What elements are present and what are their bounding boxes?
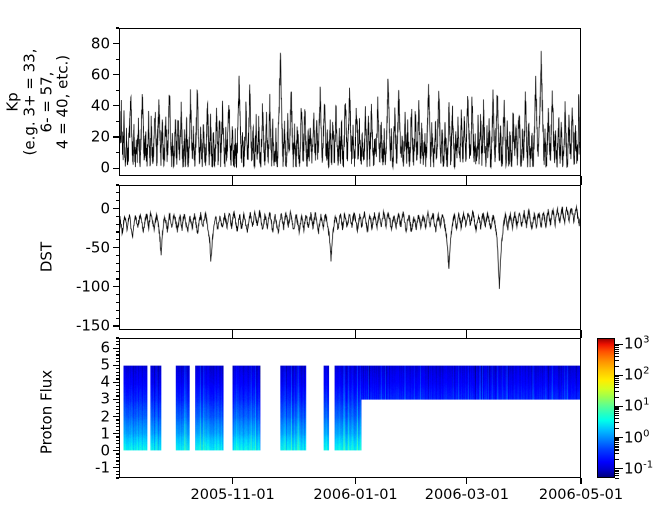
y-minor-tick (116, 358, 119, 359)
y-minor-tick (116, 310, 119, 311)
colorbar-minor-tick (615, 418, 619, 419)
y-minor-tick (116, 372, 119, 373)
colorbar-minor-tick (615, 411, 619, 412)
y-minor-tick (116, 263, 119, 264)
y-minor-tick (116, 471, 119, 472)
y-minor-tick (116, 474, 119, 475)
colorbar-minor-tick (615, 360, 619, 361)
y-minor-tick (116, 443, 119, 444)
y-minor-tick (116, 341, 119, 342)
y-minor-tick (116, 457, 119, 458)
colorbar-tick-exponent: 1 (643, 397, 649, 408)
colorbar-minor-tick (615, 380, 619, 381)
y-major-tick (113, 467, 119, 468)
colorbar-minor-tick (615, 422, 619, 423)
y-minor-tick (116, 231, 119, 232)
y-tick-label: 6 (100, 341, 110, 356)
colorbar-tick-label: 100 (624, 430, 649, 445)
x-tick-label: 2006-03-01 (425, 488, 509, 503)
colorbar-minor-tick (615, 376, 619, 377)
colorbar-minor-tick (615, 446, 619, 447)
colorbar-minor-tick (615, 353, 619, 354)
y-tick-label: 0 (100, 443, 110, 458)
y-tick-label: 80 (91, 36, 110, 51)
colorbar-minor-tick (615, 407, 619, 408)
kp-axis-label-line-1: Kp (4, 49, 21, 156)
colorbar-tick-label: 102 (624, 368, 649, 383)
y-minor-tick (116, 392, 119, 393)
y-major-tick (113, 43, 119, 44)
colorbar-minor-tick (615, 453, 619, 454)
x-major-tick-top (466, 332, 467, 338)
y-major-tick (113, 136, 119, 137)
colorbar-minor-tick (615, 382, 619, 383)
y-minor-tick (116, 409, 119, 410)
kp-axis-label-line-3: 6- = 57, (38, 49, 55, 156)
y-major-tick (113, 247, 119, 248)
colorbar-minor-tick (615, 449, 619, 450)
proton-flux-panel[interactable] (119, 338, 581, 478)
kp-axis-label-line-2: (e.g. 3+ = 33, (21, 49, 38, 156)
y-minor-tick (116, 361, 119, 362)
y-major-tick (113, 365, 119, 366)
y-major-tick (113, 74, 119, 75)
y-major-tick (113, 105, 119, 106)
colorbar-major-tick (615, 437, 623, 438)
x-major-tick-top (580, 332, 581, 338)
y-tick-label: 2 (100, 409, 110, 424)
colorbar-minor-tick (615, 473, 619, 474)
y-minor-tick (116, 436, 119, 437)
colorbar-minor-tick (615, 444, 619, 445)
y-major-tick (113, 433, 119, 434)
y-major-tick (113, 416, 119, 417)
y-minor-tick (116, 419, 119, 420)
y-tick-label: -50 (86, 240, 111, 255)
colorbar-minor-tick (615, 459, 619, 460)
y-minor-tick (116, 351, 119, 352)
dst-series-canvas (120, 186, 580, 329)
y-minor-tick (116, 200, 119, 201)
y-minor-tick (116, 318, 119, 319)
y-minor-tick (116, 477, 119, 478)
y-tick-label: 4 (100, 375, 110, 390)
colorbar-minor-tick (615, 384, 619, 385)
y-minor-tick (116, 460, 119, 461)
y-minor-tick (116, 302, 119, 303)
x-major-tick (466, 478, 467, 484)
y-tick-label: 60 (91, 67, 110, 82)
y-minor-tick (116, 294, 119, 295)
colorbar-major-tick (615, 468, 623, 469)
y-minor-tick (116, 354, 119, 355)
colorbar-tick-label: 103 (624, 337, 649, 352)
y-minor-tick (116, 59, 119, 60)
y-major-tick (113, 450, 119, 451)
figure-root: Kp (e.g. 3+ = 33, 6- = 57, 4 = 40, etc.)… (0, 0, 665, 523)
colorbar-minor-tick (615, 438, 619, 439)
colorbar-minor-tick (615, 387, 619, 388)
y-major-tick (113, 208, 119, 209)
colorbar-minor-tick (615, 391, 619, 392)
y-tick-label: -1 (95, 460, 110, 475)
y-minor-tick (116, 406, 119, 407)
colorbar-minor-tick (615, 397, 619, 398)
y-minor-tick (116, 453, 119, 454)
y-minor-tick (116, 464, 119, 465)
x-tick-label: 2005-11-01 (191, 488, 275, 503)
y-minor-tick (116, 90, 119, 91)
colorbar-minor-tick (615, 345, 619, 346)
y-tick-label: 3 (100, 392, 110, 407)
y-minor-tick (116, 121, 119, 122)
y-major-tick (113, 286, 119, 287)
x-major-tick-top (580, 179, 581, 185)
y-minor-tick (116, 430, 119, 431)
colorbar-tick-label: 10-1 (624, 461, 653, 476)
y-major-tick (113, 325, 119, 326)
y-minor-tick (116, 184, 119, 185)
dst-axis-label: DST (39, 242, 56, 272)
y-minor-tick (116, 216, 119, 217)
y-major-tick (113, 399, 119, 400)
kp-axis-label-line-4: 4 = 40, etc.) (55, 49, 72, 156)
x-major-tick (232, 478, 233, 484)
y-minor-tick (116, 27, 119, 28)
y-minor-tick (116, 378, 119, 379)
y-minor-tick (116, 375, 119, 376)
colorbar-major-tick (615, 406, 623, 407)
colorbar-minor-tick (615, 356, 619, 357)
y-minor-tick (116, 271, 119, 272)
colorbar-minor-tick (615, 478, 619, 479)
colorbar-major-tick (615, 375, 623, 376)
proton-flux-heatmap-canvas (120, 339, 580, 477)
kp-series-canvas (120, 29, 580, 175)
colorbar-minor-tick (615, 475, 619, 476)
y-tick-label: 0 (100, 161, 110, 176)
y-minor-tick (116, 255, 119, 256)
colorbar-minor-tick (615, 366, 619, 367)
y-tick-label: 0 (100, 201, 110, 216)
colorbar-tick-label: 101 (624, 399, 649, 414)
colorbar-minor-tick (615, 409, 619, 410)
colorbar-major-tick (615, 344, 623, 345)
colorbar-minor-tick (615, 378, 619, 379)
y-minor-tick (116, 192, 119, 193)
y-minor-tick (116, 426, 119, 427)
x-tick-label: 2006-05-01 (539, 488, 623, 503)
x-tick-label: 2006-01-01 (313, 488, 397, 503)
x-major-tick (580, 478, 581, 484)
colorbar[interactable] (597, 338, 615, 478)
proton-flux-axis-label: Proton Flux (39, 370, 56, 454)
x-major-tick (355, 478, 356, 484)
colorbar-minor-tick (615, 351, 619, 352)
colorbar-minor-tick (615, 347, 619, 348)
y-minor-tick (116, 389, 119, 390)
colorbar-minor-tick (615, 471, 619, 472)
y-minor-tick (116, 239, 119, 240)
y-minor-tick (116, 152, 119, 153)
y-minor-tick (116, 278, 119, 279)
x-major-tick-top (355, 179, 356, 185)
y-minor-tick (116, 368, 119, 369)
y-minor-tick (116, 385, 119, 386)
y-tick-label: -150 (76, 319, 110, 334)
y-minor-tick (116, 337, 119, 338)
y-tick-label: 20 (91, 130, 110, 145)
y-tick-label: 5 (100, 358, 110, 373)
y-major-tick (113, 348, 119, 349)
colorbar-minor-tick (615, 470, 619, 471)
y-major-tick (113, 382, 119, 383)
colorbar-minor-tick (615, 440, 619, 441)
colorbar-tick-exponent: 3 (643, 335, 649, 346)
colorbar-gradient (597, 338, 615, 478)
y-minor-tick (116, 344, 119, 345)
dst-panel[interactable] (119, 185, 581, 330)
colorbar-tick-exponent: -1 (643, 459, 653, 470)
y-tick-label: 1 (100, 426, 110, 441)
colorbar-minor-tick (615, 349, 619, 350)
colorbar-tick-exponent: 2 (643, 366, 649, 377)
x-major-tick-top (232, 332, 233, 338)
colorbar-tick-exponent: 0 (643, 428, 649, 439)
x-major-tick-top (232, 179, 233, 185)
colorbar-minor-tick (615, 415, 619, 416)
kp-panel[interactable] (119, 28, 581, 176)
y-minor-tick (116, 402, 119, 403)
y-minor-tick (116, 224, 119, 225)
colorbar-minor-tick (615, 442, 619, 443)
y-minor-tick (116, 447, 119, 448)
y-minor-tick (116, 440, 119, 441)
colorbar-minor-tick (615, 428, 619, 429)
y-minor-tick (116, 413, 119, 414)
kp-axis-label: Kp (e.g. 3+ = 33, 6- = 57, 4 = 40, etc.) (4, 49, 71, 156)
y-minor-tick (116, 423, 119, 424)
x-major-tick-top (355, 332, 356, 338)
x-major-tick-top (466, 179, 467, 185)
y-tick-label: -100 (76, 279, 110, 294)
y-minor-tick (116, 395, 119, 396)
y-tick-label: 40 (91, 98, 110, 113)
y-major-tick (113, 168, 119, 169)
colorbar-minor-tick (615, 413, 619, 414)
